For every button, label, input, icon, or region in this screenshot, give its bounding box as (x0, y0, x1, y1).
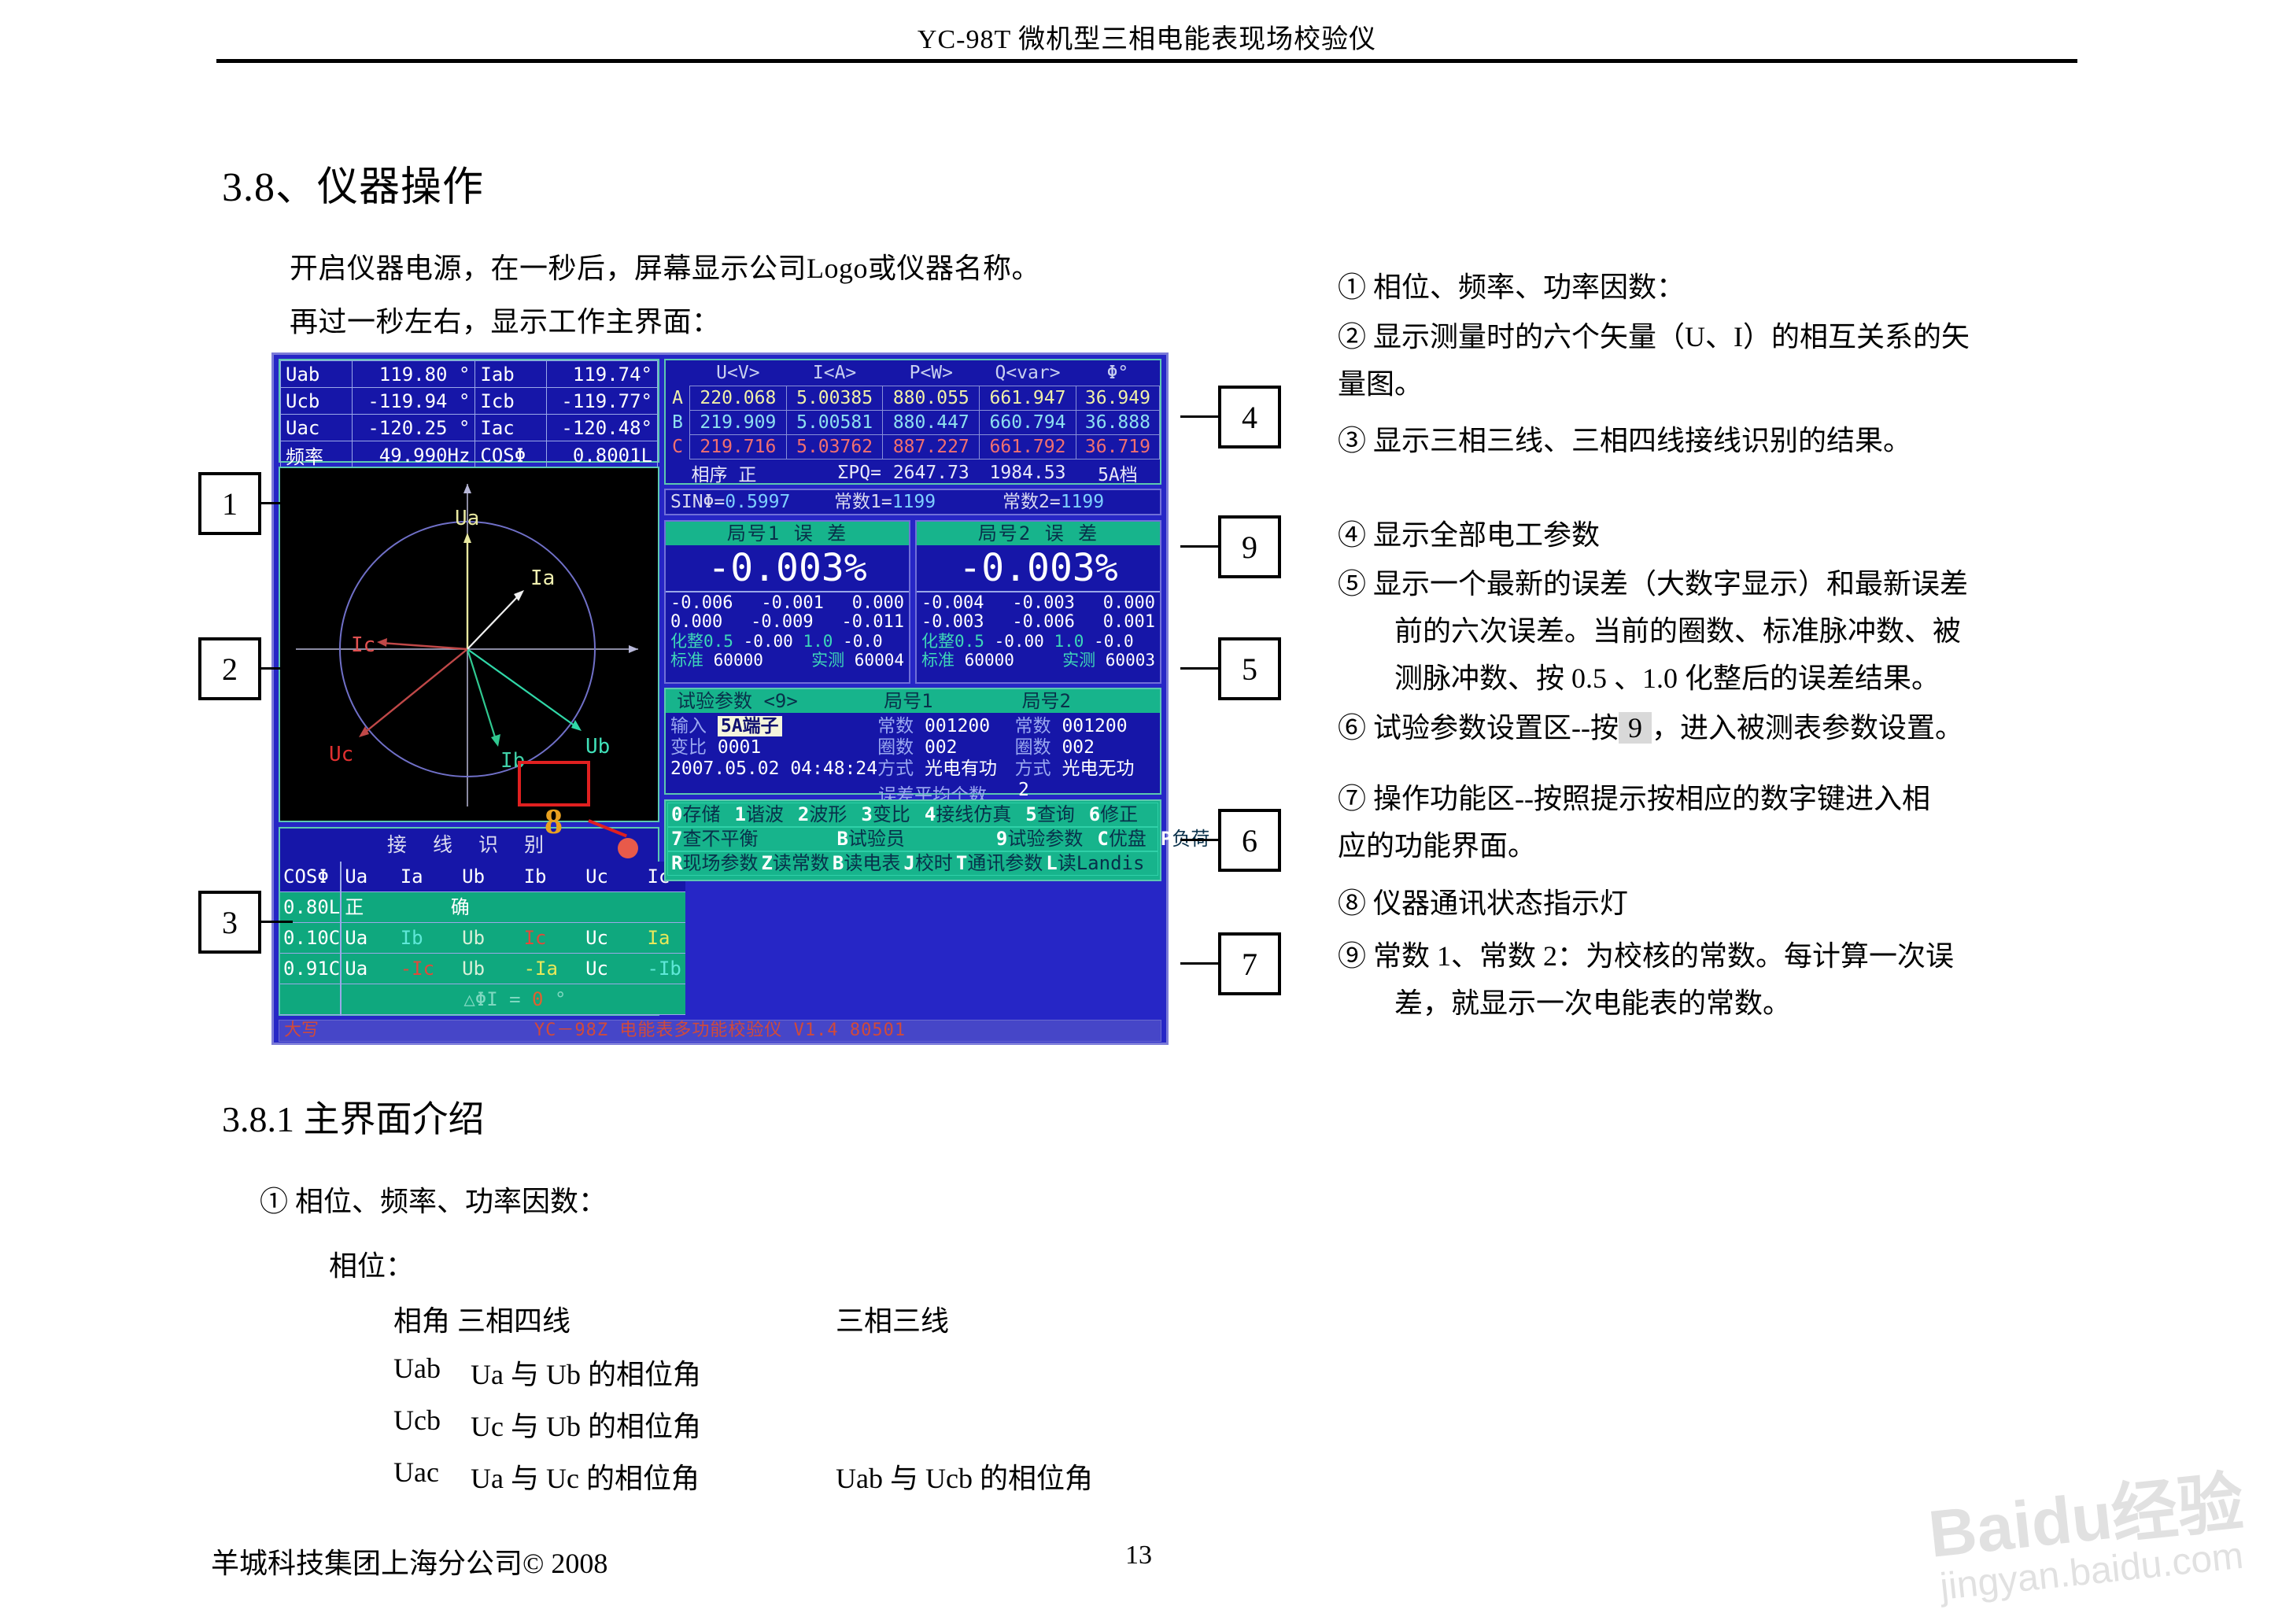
sinphi-group: SINΦ=0.5997 (670, 490, 790, 514)
constant2-label: 常数2= (1002, 492, 1061, 512)
meter1-constant-value: 001200 (925, 716, 990, 736)
rounded-05-value: -0.00 (744, 632, 793, 651)
menu-item-read-landis[interactable]: L读Landis (1043, 851, 1144, 876)
error-block-meter2: 局号2 误 差 -0.003% -0.004 -0.003 0.000 -0.0… (915, 520, 1161, 684)
etable-cell-q: 661.792 (980, 435, 1076, 460)
phase-row-3wire-uac: Uab 与 Ucb 的相位角 (836, 1456, 1093, 1497)
callout-4: 4 (1218, 386, 1281, 448)
meter2-constant-row: 常数 001200 (1015, 716, 1160, 737)
wiring-data-column: Ua Ia Ub Ib Uc Ic 正 确 Ua (342, 862, 685, 1016)
etable-corner (666, 360, 690, 386)
wiring-delta-label: △ΦI = (463, 984, 520, 1015)
test-parameters-title: 试验参数 <9> (666, 689, 884, 713)
wiring-header-ib: Ib (524, 862, 574, 892)
function-menu-row-3: R现场参数 Z读常数 B读电表 J校时 T通讯参数 L读Landis (667, 851, 1158, 876)
error-block-title: 局号2 误 差 (917, 522, 1160, 545)
table-row: B 219.909 5.00581 880.447 660.794 36.888 (666, 411, 1160, 435)
device-model-title: YC－98Z 电能表多功能校验仪 V1.4 80501 (279, 1021, 1161, 1041)
wiring-cell: Ua (345, 923, 389, 954)
meter2-params-column: 常数 001200 圈数 002 方式 光电无功 (1015, 713, 1160, 780)
constant1-group: 常数1=1199 (834, 490, 936, 514)
error-history-row: 0.000 -0.009 -0.011 (670, 613, 904, 632)
etable-cell-i: 5.03762 (786, 435, 883, 460)
meter2-constant-label: 常数 (1015, 716, 1051, 736)
etable-summary-row: 相序 正 ΣPQ= 2647.73 1984.53 5A档 (666, 460, 1160, 487)
wiring-cell: Ub (462, 954, 512, 984)
table-row: A 220.068 5.00385 880.055 661.947 36.949 (666, 386, 1160, 411)
etable-cell-u: 219.909 (690, 411, 787, 435)
wiring-cell: -Ib (648, 954, 685, 984)
error-history-cell: -0.006 (1012, 613, 1074, 632)
meter1-constant-label: 常数 (877, 716, 914, 736)
wiring-cell: Uc (585, 954, 636, 984)
annotation-text: ⑦ 操作功能区--按照提示按相应的数字键进入相 (1338, 775, 2132, 822)
constant1-value: 1199 (892, 492, 936, 512)
annotation-item-9: ⑨ 常数 1、常数 2：为校核的常数。每计算一次误 差，就显示一次电能表的常数。 (1338, 932, 2132, 1027)
menu-item-harmonic[interactable]: 1谐波 (731, 803, 794, 827)
annotation-text: ③ 显示三相三线、三相四线接线识别的结果。 (1338, 417, 2132, 464)
callout-leader-9 (1180, 545, 1218, 548)
test-parameters-panel: 试验参数 <9> 局号1 局号2 输入 5A端子 变比 0001 (664, 688, 1161, 795)
error-big-value: -0.003% (917, 545, 1160, 592)
error-blocks-region: 局号1 误 差 -0.003% -0.006 -0.001 0.000 0.00… (664, 520, 1161, 684)
phase-row-4wire-ucb: Uc 与 Ub 的相位角 (471, 1404, 701, 1445)
intro-paragraph-1: 开启仪器电源，在一秒后，屏幕显示公司Logo或仪器名称。 (290, 245, 1040, 286)
callout-1: 1 (198, 472, 261, 535)
table-header-row: U<V> I<A> P<W> Q<var> Φ° (666, 360, 1160, 386)
annotation-text: 应的功能界面。 (1338, 822, 2132, 869)
error-pulse-row: 标准 60000 实测 60004 (666, 651, 909, 670)
keycap-9: 9 (1619, 712, 1652, 744)
measured-pulse-label: 实测 (1062, 651, 1095, 670)
phase-label-uac: Uac (281, 415, 353, 441)
annotation-item-6: ⑥ 试验参数设置区--按9，进入被测表参数设置。 (1338, 704, 2132, 751)
phasor-label-uc: Uc (329, 743, 353, 766)
ratio-value: 0001 (718, 737, 761, 758)
menu-item-comm-params[interactable]: T通讯参数 (953, 851, 1043, 876)
phase-label-ucb: Ucb (281, 388, 353, 415)
measured-pulse-value: 60003 (1106, 651, 1155, 670)
ratio-row[interactable]: 变比 0001 (670, 737, 877, 758)
meter2-mode-row: 方式 光电无功 (1015, 758, 1160, 780)
callout-2: 2 (198, 637, 261, 700)
meter1-turns-value: 002 (925, 737, 958, 758)
wiring-delta-row: △ΦI = 0 ° (342, 984, 685, 1015)
etable-cell-p: 887.227 (883, 435, 980, 460)
table-row: C 219.716 5.03762 887.227 661.792 36.719 (666, 435, 1160, 460)
error-history-row: -0.004 -0.003 0.000 (921, 594, 1155, 613)
meter2-title: 局号2 (1022, 689, 1160, 713)
menu-item-read-meter[interactable]: B读电表 (829, 851, 900, 876)
annotation-item-3: ③ 显示三相三线、三相四线接线识别的结果。 (1338, 417, 2132, 464)
wiring-header-ub: Ub (462, 862, 512, 892)
etable-phase-c: C (666, 435, 690, 460)
phase-row-4wire-uac: Ua 与 Uc 的相位角 (471, 1456, 700, 1497)
rounded-10-value: -0.0 (1094, 632, 1134, 651)
error-history-cell: -0.011 (842, 613, 904, 632)
marker-8-label: 8 (545, 800, 563, 842)
wiring-cell: Ic (524, 923, 574, 954)
wiring-result-zheng: 正 (345, 892, 439, 923)
annotation-item-8: ⑧ 仪器通讯状态指示灯 (1338, 880, 2132, 927)
phasor-label-ia: Ia (530, 567, 555, 590)
sinphi-label: SINΦ= (670, 492, 725, 512)
menu-item-query[interactable]: 5查询 (1022, 803, 1085, 827)
phase-label-heading: 相位： (329, 1243, 414, 1284)
meter1-turns-row: 圈数 002 (877, 737, 1014, 758)
watermark: Baidu经验 jingyan.baidu.com (1926, 1467, 2251, 1609)
callout-leader-2 (261, 667, 293, 670)
phase-label-iac: Iac (475, 415, 547, 441)
wiring-cell: Ib (401, 923, 451, 954)
meter1-title: 局号1 (884, 689, 1021, 713)
wiring-result-que: 确 (451, 892, 470, 923)
callout-9: 9 (1218, 515, 1281, 578)
menu-item-wiring-sim[interactable]: 4接线仿真 (921, 803, 1022, 827)
error-history-cell: 0.000 (1103, 594, 1155, 613)
section-title: 3.8、仪器操作 (222, 153, 484, 212)
wiring-header-cos: COSΦ (280, 862, 340, 892)
menu-item-correct[interactable]: 6修正 (1086, 803, 1149, 827)
error-rounded-row: 化整0.5 -0.00 1.0 -0.0 (917, 632, 1160, 651)
wiring-cos-value: 0.10C (280, 923, 340, 954)
rounded-10-value: -0.0 (843, 632, 883, 651)
error-pulse-row: 标准 60000 实测 60003 (917, 651, 1160, 670)
menu-item-test-params[interactable]: 9试验参数 (993, 827, 1094, 851)
error-history-row: -0.003 -0.006 0.001 (921, 613, 1155, 632)
phasor-diagram-panel: Ua Ib Ub Uc Ic (279, 467, 659, 822)
header-rule (216, 59, 2077, 63)
menu-item-usb[interactable]: C优盘 (1094, 827, 1157, 851)
constant2-value: 1199 (1061, 492, 1104, 512)
etable-cell-phi: 36.949 (1076, 386, 1159, 411)
function-menu-row-1: 0存储 1谐波 2波形 3变比 4接线仿真 5查询 6修正 (667, 803, 1158, 827)
meter2-mode-value: 光电无功 (1062, 758, 1134, 779)
error-history-cell: 0.001 (1103, 613, 1155, 632)
rounded-label: 化整 (670, 632, 703, 651)
phase-row-name-ucb: Ucb (393, 1404, 441, 1437)
watermark-main: Baidu经验 (1926, 1467, 2247, 1570)
wiring-cell: -Ic (401, 954, 451, 984)
annotation-text: ④ 显示全部电工参数 (1338, 511, 2132, 559)
wiring-delta-unit: ° (555, 984, 566, 1015)
wiring-result-row: 正 确 (342, 892, 685, 923)
etable-header-phi: Φ° (1076, 360, 1159, 386)
annotation-text: ① 相位、频率、功率因数： (1338, 264, 2132, 311)
power-factor-value: 0.8001L (547, 441, 658, 470)
error-big-value: -0.003% (666, 545, 909, 592)
annotation-text: 前的六次误差。当前的圈数、标准脉冲数、被 (1338, 607, 2132, 655)
error-history-row: -0.006 -0.001 0.000 (670, 594, 904, 613)
annotation-text: ，进入被测表参数设置。 (1652, 712, 1963, 744)
test-parameters-left-column: 输入 5A端子 变比 0001 2007.05.02 04:48:24 (666, 713, 877, 780)
annotation-text: ⑧ 仪器通讯状态指示灯 (1338, 880, 2132, 927)
wiring-map-row: Ua -Ic Ub -Ia Uc -Ib (342, 954, 685, 984)
electrical-parameters-panel: U<V> I<A> P<W> Q<var> Φ° A 220.068 5.003… (664, 359, 1161, 485)
wiring-cell: Ua (345, 954, 389, 984)
annotation-item-7: ⑦ 操作功能区--按照提示按相应的数字键进入相 应的功能界面。 (1338, 775, 2132, 869)
etable-cell-u: 220.068 (690, 386, 787, 411)
callout-leader-6 (1180, 839, 1218, 841)
etable-summary-corner (666, 460, 690, 487)
meter1-constant-row: 常数 001200 (877, 716, 1014, 737)
phase-table-head-4wire: 相角 三相四线 (393, 1298, 570, 1339)
ratio-label: 变比 (670, 737, 707, 758)
frequency-label: 频率 (281, 441, 353, 470)
wiring-delta-value: 0 (532, 984, 543, 1015)
rounded-label: 化整 (921, 632, 954, 651)
annotation-text: 测脉冲数、按 0.5 、1.0 化整后的误差结果。 (1338, 655, 2132, 702)
standard-pulse-value: 60000 (965, 651, 1014, 670)
running-header: YC-98T 微机型三相电能表现场校验仪 (216, 17, 2077, 56)
list-item-1: ① 相位、频率、功率因数： (260, 1179, 607, 1220)
wiring-cos-column: COSΦ 0.80L 0.10C 0.91C (280, 862, 342, 1016)
error-history-cell: -0.006 (670, 594, 733, 613)
phase-label-iab: Iab (475, 361, 547, 388)
menu-item-read-constant[interactable]: Z读常数 (758, 851, 829, 876)
annotation-text: ② 显示测量时的六个矢量（U、I）的相互关系的矢 (1338, 313, 2132, 360)
datetime-display: 2007.05.02 04:48:24 (670, 758, 877, 780)
error-history-cell: 0.000 (852, 594, 904, 613)
callout-leader-1 (261, 502, 293, 504)
standard-pulse-value: 60000 (714, 651, 763, 670)
menu-item-store[interactable]: 0存储 (668, 803, 731, 827)
intro-paragraph-2: 再过一秒左右，显示工作主界面： (290, 299, 721, 340)
etable-cell-q: 661.947 (980, 386, 1076, 411)
test-parameters-header: 试验参数 <9> 局号1 局号2 (666, 689, 1160, 713)
etable-cell-q: 660.794 (980, 411, 1076, 435)
meter1-params-column: 常数 001200 圈数 002 方式 光电有功 (877, 713, 1014, 780)
phase-value-ucb: -119.94 ° (353, 388, 475, 415)
error-block-title: 局号1 误 差 (666, 522, 909, 545)
callout-6: 6 (1218, 809, 1281, 872)
watermark-sub: jingyan.baidu.com (1933, 1537, 2251, 1609)
etable-header-i: I<A> (786, 360, 883, 386)
phase-value-icb: -119.77° (547, 388, 658, 415)
etable-cell-u: 219.716 (690, 435, 787, 460)
rounded-05-value: -0.00 (995, 632, 1044, 651)
menu-item-site-params[interactable]: R现场参数 (668, 851, 758, 876)
callout-leader-4 (1180, 415, 1218, 418)
meter1-turns-label: 圈数 (877, 737, 914, 758)
error-rounded-row: 化整0.5 -0.00 1.0 -0.0 (666, 632, 909, 651)
measured-pulse-label: 实测 (811, 651, 844, 670)
frequency-value: 49.990Hz (353, 441, 475, 470)
phase-angle-table: Uab 119.80 ° Iab 119.74° Ucb -119.94 ° I… (280, 360, 658, 470)
phase-row-name-uab: Uab (393, 1352, 441, 1385)
standard-pulse-label: 标准 (670, 651, 703, 670)
wiring-map-row: Ua Ib Ub Ic Uc Ia (342, 923, 685, 954)
error-history-grid: -0.004 -0.003 0.000 -0.003 -0.006 0.001 (917, 592, 1160, 632)
callout-leader-3 (261, 921, 293, 923)
annotation-text: ⑤ 显示一个最新的误差（大数字显示）和最新误差 (1338, 560, 2132, 607)
phase-row-name-uac: Uac (393, 1456, 439, 1489)
menu-item-unbalance[interactable]: 7查不平衡 (668, 827, 833, 851)
callout-7: 7 (1218, 932, 1281, 995)
etable-header-q: Q<var> (980, 360, 1076, 386)
phasor-label-ua: Ua (455, 507, 479, 530)
etable-phase-b: B (666, 411, 690, 435)
wiring-title: 接 线 识 别 (280, 829, 658, 862)
etable-cell-p: 880.055 (883, 386, 980, 411)
meter2-turns-value: 002 (1062, 737, 1095, 758)
annotation-text: 差，就显示一次电能表的常数。 (1338, 980, 2132, 1027)
callout-leader-7 (1180, 962, 1218, 965)
subsection-title: 3.8.1 主界面介绍 (222, 1091, 485, 1142)
wiring-cell: Uc (585, 923, 636, 954)
phasor-diagram-svg: Ua Ib Ub Uc Ic (280, 468, 658, 821)
phase-table-head-3wire: 三相三线 (836, 1298, 949, 1339)
constant2-group: 常数2=1199 (1002, 490, 1104, 514)
menu-item-ratio[interactable]: 3变比 (858, 803, 921, 827)
table-row: Uac -120.25 ° Iac -120.48° (281, 415, 658, 441)
annotation-text: 量图。 (1338, 360, 2132, 408)
table-row: Uab 119.80 ° Iab 119.74° (281, 361, 658, 388)
etable-cell-phi: 36.888 (1076, 411, 1159, 435)
constant1-label: 常数1= (834, 492, 892, 512)
comm-status-led (618, 838, 638, 858)
menu-item-waveform[interactable]: 2波形 (795, 803, 858, 827)
wiring-cos-value: 0.91C (280, 954, 340, 984)
annotation-item-2: ② 显示测量时的六个矢量（U、I）的相互关系的矢 量图。 (1338, 313, 2132, 408)
phase-angle-panel: Uab 119.80 ° Iab 119.74° Ucb -119.94 ° I… (279, 359, 659, 463)
phase-value-uac: -120.25 ° (353, 415, 475, 441)
standard-pulse-label: 标准 (921, 651, 954, 670)
annotation-item-5: ⑤ 显示一个最新的误差（大数字显示）和最新误差 前的六次误差。当前的圈数、标准脉… (1338, 560, 2132, 702)
wiring-header-uc: Uc (585, 862, 636, 892)
wiring-identification-panel: 接 线 识 别 COSΦ 0.80L 0.10C 0.91C Ua Ia Ub (279, 827, 659, 1016)
callout-3: 3 (198, 891, 261, 954)
device-status-bar: 大写 YC－98Z 电能表多功能校验仪 V1.4 80501 (279, 1020, 1161, 1042)
table-row: 频率 49.990Hz COSΦ 0.8001L (281, 441, 658, 470)
etable-header-u: U<V> (690, 360, 787, 386)
rounded-10-label: 1.0 (803, 632, 833, 651)
phase-sequence-label: 相序 正 (690, 460, 787, 487)
constants-row: SINΦ=0.5997 常数1=1199 常数2=1199 (664, 489, 1161, 515)
annotation-item-4: ④ 显示全部电工参数 (1338, 511, 2132, 559)
function-menu-row-2: 7查不平衡 B试验员 9试验参数 C优盘 P负荷 (667, 827, 1158, 851)
etable-cell-i: 5.00385 (786, 386, 883, 411)
phase-value-iab: 119.74° (547, 361, 658, 388)
sinphi-value: 0.5997 (725, 492, 790, 512)
annotation-line-6: ⑥ 试验参数设置区--按9，进入被测表参数设置。 (1338, 704, 2132, 751)
menu-item-tester[interactable]: B试验员 (833, 827, 992, 851)
error-block-meter1: 局号1 误 差 -0.003% -0.006 -0.001 0.000 0.00… (664, 520, 910, 684)
phase-value-uab: 119.80 ° (353, 361, 475, 388)
device-screenshot: Uab 119.80 ° Iab 119.74° Ucb -119.94 ° I… (271, 352, 1169, 1045)
meter1-mode-value: 光电有功 (925, 758, 997, 779)
sum-p-value: 2647.73 (883, 460, 980, 487)
input-terminal-value[interactable]: 5A端子 (718, 716, 782, 736)
wiring-cos-value: 0.80L (280, 892, 340, 923)
rounded-05-label: 0.5 (703, 632, 733, 651)
document-page: YC-98T 微机型三相电能表现场校验仪 3.8、仪器操作 开启仪器电源，在一秒… (0, 0, 2293, 1624)
callout-leader-5 (1180, 667, 1218, 670)
etable-cell-i: 5.00581 (786, 411, 883, 435)
footer-page-number: 13 (1125, 1541, 1152, 1570)
annotation-text: ⑨ 常数 1、常数 2：为校核的常数。每计算一次误 (1338, 932, 2132, 980)
wiring-header-row: Ua Ia Ub Ib Uc Ic (342, 862, 685, 892)
meter1-mode-row: 方式 光电有功 (877, 758, 1014, 780)
phasor-label-ub: Ub (585, 735, 610, 758)
current-range-badge: 5A档 (1076, 460, 1159, 487)
input-terminal-label: 输入 (670, 716, 707, 736)
measured-pulse-value: 60004 (855, 651, 904, 670)
footer-copyright: 羊城科技集团上海分公司© 2008 (211, 1541, 607, 1582)
phase-label-icb: Icb (475, 388, 547, 415)
annotation-text: ⑥ 试验参数设置区--按 (1338, 712, 1619, 744)
phase-value-iac: -120.48° (547, 415, 658, 441)
etable-cell-phi: 36.719 (1076, 435, 1159, 460)
meter2-turns-row: 圈数 002 (1015, 737, 1160, 758)
table-row: Ucb -119.94 ° Icb -119.77° (281, 388, 658, 415)
sum-q-value: 1984.53 (980, 460, 1076, 487)
callout-5: 5 (1218, 637, 1281, 700)
wiring-cell: -Ia (524, 954, 574, 984)
meter1-mode-label: 方式 (877, 758, 914, 779)
sum-pq-label: ΣPQ= (786, 460, 883, 487)
phase-label-uab: Uab (281, 361, 353, 388)
phase-row-4wire-uab: Ua 与 Ub 的相位角 (471, 1352, 701, 1393)
menu-item-time-sync[interactable]: J校时 (900, 851, 952, 876)
error-history-cell: -0.001 (761, 594, 823, 613)
rounded-10-label: 1.0 (1054, 632, 1084, 651)
electrical-parameters-table: U<V> I<A> P<W> Q<var> Φ° A 220.068 5.003… (666, 360, 1160, 486)
wiring-cell: Ub (462, 923, 512, 954)
power-factor-label: COSΦ (475, 441, 547, 470)
error-history-cell: -0.003 (921, 613, 984, 632)
phasor-label-ic: Ic (351, 633, 375, 657)
input-terminal-row[interactable]: 输入 5A端子 (670, 716, 877, 737)
meter2-mode-label: 方式 (1015, 758, 1051, 779)
wiring-cos-blank (280, 984, 340, 1015)
etable-cell-p: 880.447 (883, 411, 980, 435)
annotation-item-1: ① 相位、频率、功率因数： (1338, 264, 2132, 311)
error-history-cell: -0.003 (1012, 594, 1074, 613)
etable-phase-a: A (666, 386, 690, 411)
error-history-grid: -0.006 -0.001 0.000 0.000 -0.009 -0.011 (666, 592, 909, 632)
wiring-header-ua: Ua (345, 862, 389, 892)
error-history-cell: -0.009 (751, 613, 813, 632)
function-menu-panel: 0存储 1谐波 2波形 3变比 4接线仿真 5查询 6修正 7查不平衡 B试验员… (664, 799, 1161, 881)
meter2-turns-label: 圈数 (1015, 737, 1051, 758)
wiring-header-ia: Ia (401, 862, 451, 892)
rounded-05-label: 0.5 (954, 632, 984, 651)
error-history-cell: 0.000 (670, 613, 722, 632)
wiring-cell: Ia (648, 923, 685, 954)
error-history-cell: -0.004 (921, 594, 984, 613)
meter2-constant-value: 001200 (1062, 716, 1127, 736)
etable-header-p: P<W> (883, 360, 980, 386)
